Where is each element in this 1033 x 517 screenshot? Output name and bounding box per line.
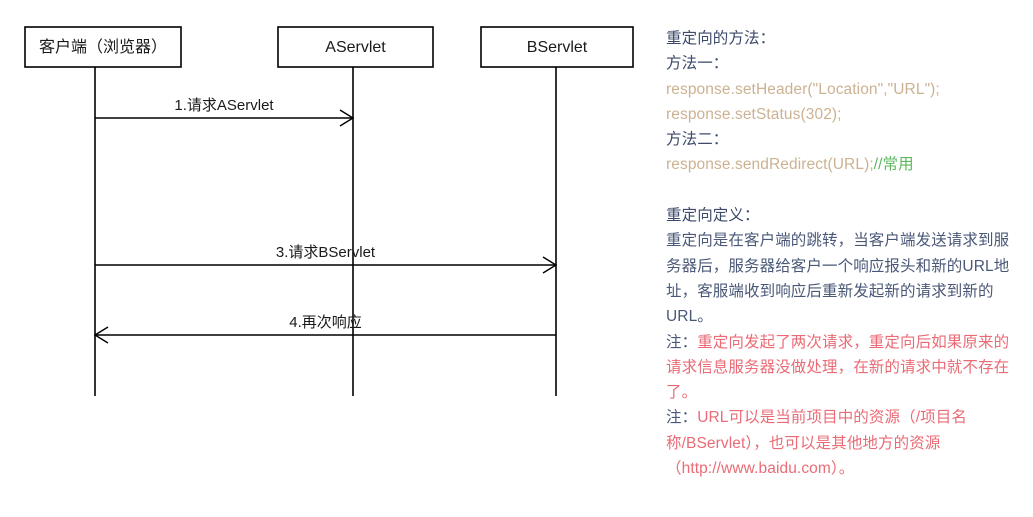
message-2: 3.请求BServlet bbox=[95, 244, 556, 273]
note-line: response.setHeader("Location","URL"); bbox=[666, 77, 1026, 102]
note-segment-code: response.setHeader("Location","URL"); bbox=[666, 81, 940, 98]
note-line: （http://www.baidu.com）。 bbox=[666, 456, 1026, 481]
notes-panel: 重定向的方法：方法一：response.setHeader("Location"… bbox=[666, 26, 1026, 481]
note-line: 称/BServlet），也可以是其他地方的资源 bbox=[666, 431, 1026, 456]
participant-box-bservlet: BServlet bbox=[481, 27, 633, 67]
note-segment-code: response.sendRedirect(URL); bbox=[666, 156, 874, 173]
note-segment-comment: //常用 bbox=[874, 156, 914, 173]
note-segment-note: 重定向发起了两次请求，重定向后如果原来的 bbox=[697, 334, 1009, 351]
note-segment-note: URL可以是当前项目中的资源（/项目名 bbox=[697, 409, 967, 426]
message-label-2: 3.请求BServlet bbox=[276, 244, 376, 261]
message-3: 4.再次响应 bbox=[95, 313, 556, 343]
note-segment-body: 务器后，服务器给客户一个响应报头和新的URL地 bbox=[666, 258, 1009, 275]
note-segment-body: 注： bbox=[666, 409, 697, 426]
message-label-1: 1.请求AServlet bbox=[174, 97, 274, 114]
participant-box-client: 客户端（浏览器） bbox=[25, 27, 181, 67]
message-label-3: 4.再次响应 bbox=[289, 313, 362, 331]
note-line: response.setStatus(302); bbox=[666, 102, 1026, 127]
note-segment-heading: 重定向定义： bbox=[666, 207, 760, 224]
note-segment-body: 重定向是在客户端的跳转，当客户端发送请求到服 bbox=[666, 232, 1009, 249]
note-segment-body: 址，客服端收到响应后重新发起新的请求到新的 bbox=[666, 283, 994, 300]
note-line: 务器后，服务器给客户一个响应报头和新的URL地 bbox=[666, 254, 1026, 279]
note-line: 方法二： bbox=[666, 127, 1026, 152]
note-line: 址，客服端收到响应后重新发起新的请求到新的 bbox=[666, 279, 1026, 304]
participant-label-bservlet: BServlet bbox=[527, 39, 588, 56]
sequence-diagram: 1.请求AServlet3.请求BServlet4.再次响应 客户端（浏览器）A… bbox=[0, 0, 660, 517]
note-segment-heading: 方法一： bbox=[666, 55, 728, 72]
note-segment-body: 注： bbox=[666, 334, 697, 351]
note-line: 重定向的方法： bbox=[666, 26, 1026, 51]
note-line: 了。 bbox=[666, 380, 1026, 405]
note-line: 重定向是在客户端的跳转，当客户端发送请求到服 bbox=[666, 228, 1026, 253]
note-segment-note: 了。 bbox=[666, 384, 697, 401]
note-line: 重定向定义： bbox=[666, 203, 1026, 228]
note-line: 方法一： bbox=[666, 51, 1026, 76]
note-line: 请求信息服务器没做处理，在新的请求中就不存在 bbox=[666, 355, 1026, 380]
participant-label-aservlet: AServlet bbox=[325, 39, 386, 56]
note-line: 注：URL可以是当前项目中的资源（/项目名 bbox=[666, 405, 1026, 430]
note-segment-note: （http://www.baidu.com）。 bbox=[666, 460, 854, 477]
note-segment-body: URL。 bbox=[666, 308, 713, 325]
note-segment-heading: 方法二： bbox=[666, 131, 728, 148]
note-segment-code: response.setStatus(302); bbox=[666, 106, 842, 123]
participant-label-client: 客户端（浏览器） bbox=[39, 38, 167, 56]
message-1: 1.请求AServlet bbox=[95, 97, 353, 126]
note-line: response.sendRedirect(URL);//常用 bbox=[666, 152, 1026, 177]
note-segment-note: 称/BServlet），也可以是其他地方的资源 bbox=[666, 435, 940, 452]
participant-box-aservlet: AServlet bbox=[278, 27, 433, 67]
note-line: 注：重定向发起了两次请求，重定向后如果原来的 bbox=[666, 330, 1026, 355]
note-spacer bbox=[666, 178, 1026, 203]
note-line: URL。 bbox=[666, 304, 1026, 329]
note-segment-heading: 重定向的方法： bbox=[666, 30, 775, 47]
note-segment-note: 请求信息服务器没做处理，在新的请求中就不存在 bbox=[666, 359, 1009, 376]
